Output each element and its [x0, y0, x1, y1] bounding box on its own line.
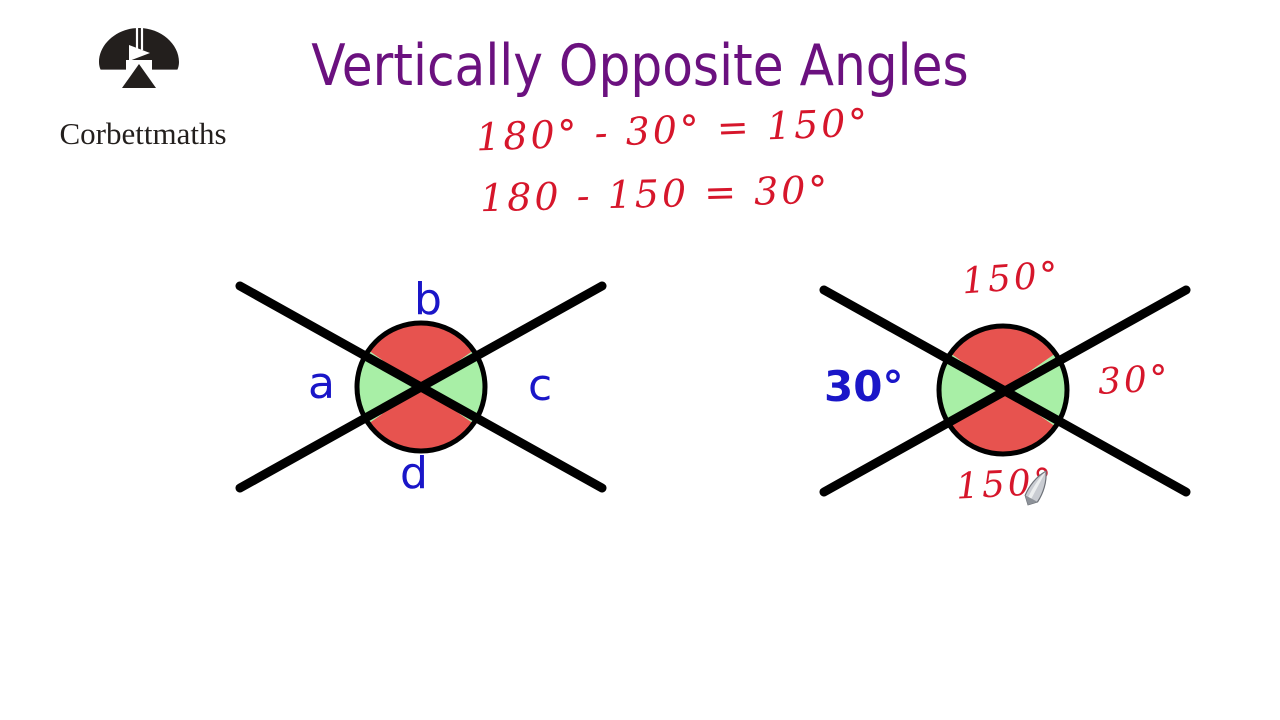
- slide-canvas: Corbettmaths Vertically Opposite Angles …: [0, 0, 1280, 720]
- working-line-1: 180° - 30° = 150°: [475, 100, 871, 159]
- angle-value-bottom: 150°: [955, 461, 1056, 507]
- working-line-2: 180 - 150 = 30°: [480, 168, 831, 221]
- angle-label-b: b: [414, 278, 442, 322]
- angle-value-left: 30°: [824, 366, 903, 408]
- angle-label-a: a: [308, 362, 335, 406]
- page-title: Vertically Opposite Angles: [45, 34, 1235, 98]
- angle-value-right: 30°: [1097, 358, 1172, 403]
- logo-wordmark: Corbettmaths: [18, 118, 268, 149]
- angle-label-c: c: [528, 364, 552, 408]
- angle-value-top: 150°: [961, 255, 1062, 303]
- angle-label-d: d: [400, 452, 428, 496]
